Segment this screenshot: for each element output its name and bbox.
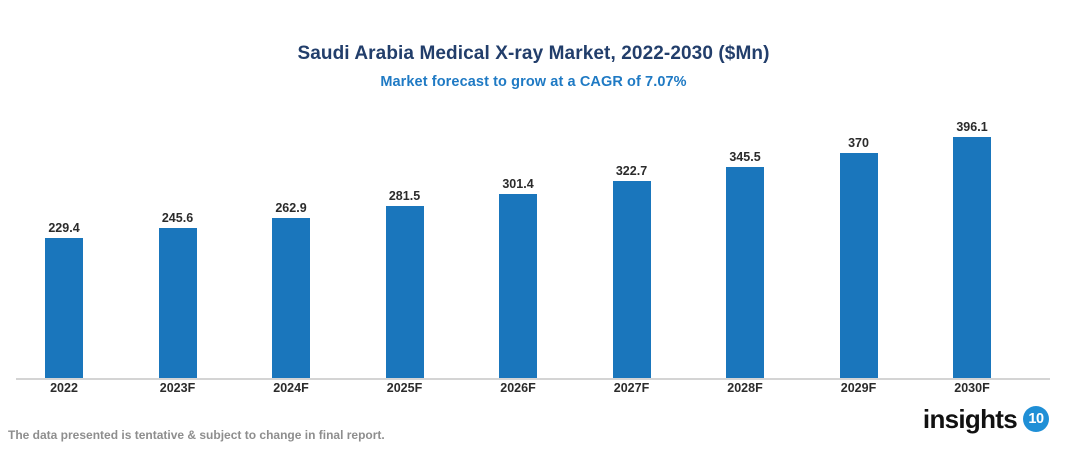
bar-value-label: 370 bbox=[848, 136, 869, 150]
insights10-logo: insights 10 bbox=[923, 406, 1049, 432]
plot-area: 229.4245.6262.9281.5301.4322.7345.537039… bbox=[0, 110, 1067, 380]
bar-2030F[interactable]: 396.1 bbox=[953, 137, 991, 378]
category-label-2022: 2022 bbox=[16, 381, 112, 395]
bar-value-label: 301.4 bbox=[502, 177, 533, 191]
bar-2027F[interactable]: 322.7 bbox=[613, 181, 651, 378]
bar-2023F[interactable]: 245.6 bbox=[159, 228, 197, 378]
bar-value-label: 322.7 bbox=[616, 164, 647, 178]
category-axis-labels: 20222023F2024F2025F2026F2027F2028F2029F2… bbox=[0, 378, 1067, 402]
category-label-2023F: 2023F bbox=[130, 381, 226, 395]
chart-container: Saudi Arabia Medical X-ray Market, 2022-… bbox=[0, 0, 1067, 454]
bar-value-label: 396.1 bbox=[956, 120, 987, 134]
bar-2029F[interactable]: 370 bbox=[840, 153, 878, 378]
bar-value-label: 229.4 bbox=[48, 221, 79, 235]
brand-badge-icon: 10 bbox=[1023, 406, 1049, 432]
bar-value-label: 262.9 bbox=[275, 201, 306, 215]
bar-group: 370 bbox=[811, 110, 907, 378]
category-label-2027F: 2027F bbox=[584, 381, 680, 395]
bar-group: 281.5 bbox=[357, 110, 453, 378]
bar-group: 262.9 bbox=[243, 110, 339, 378]
brand-wordmark: insights bbox=[923, 406, 1017, 432]
bar-group: 301.4 bbox=[470, 110, 566, 378]
bar-2024F[interactable]: 262.9 bbox=[272, 218, 310, 378]
category-label-2030F: 2030F bbox=[924, 381, 1020, 395]
category-label-2025F: 2025F bbox=[357, 381, 453, 395]
bar-group: 245.6 bbox=[130, 110, 226, 378]
bar-2022[interactable]: 229.4 bbox=[45, 238, 83, 378]
chart-subtitle: Market forecast to grow at a CAGR of 7.0… bbox=[0, 74, 1067, 90]
bar-value-label: 245.6 bbox=[162, 211, 193, 225]
bar-2026F[interactable]: 301.4 bbox=[499, 194, 537, 378]
bar-group: 229.4 bbox=[16, 110, 112, 378]
category-label-2026F: 2026F bbox=[470, 381, 566, 395]
bar-value-label: 345.5 bbox=[729, 150, 760, 164]
chart-title: Saudi Arabia Medical X-ray Market, 2022-… bbox=[0, 43, 1067, 65]
bar-2028F[interactable]: 345.5 bbox=[726, 167, 764, 378]
category-label-2029F: 2029F bbox=[811, 381, 907, 395]
footer-disclaimer: The data presented is tentative & subjec… bbox=[8, 428, 385, 442]
category-label-2028F: 2028F bbox=[697, 381, 793, 395]
bar-group: 345.5 bbox=[697, 110, 793, 378]
category-label-2024F: 2024F bbox=[243, 381, 339, 395]
bar-group: 322.7 bbox=[584, 110, 680, 378]
bar-value-label: 281.5 bbox=[389, 189, 420, 203]
bar-group: 396.1 bbox=[924, 110, 1020, 378]
bar-2025F[interactable]: 281.5 bbox=[386, 206, 424, 378]
